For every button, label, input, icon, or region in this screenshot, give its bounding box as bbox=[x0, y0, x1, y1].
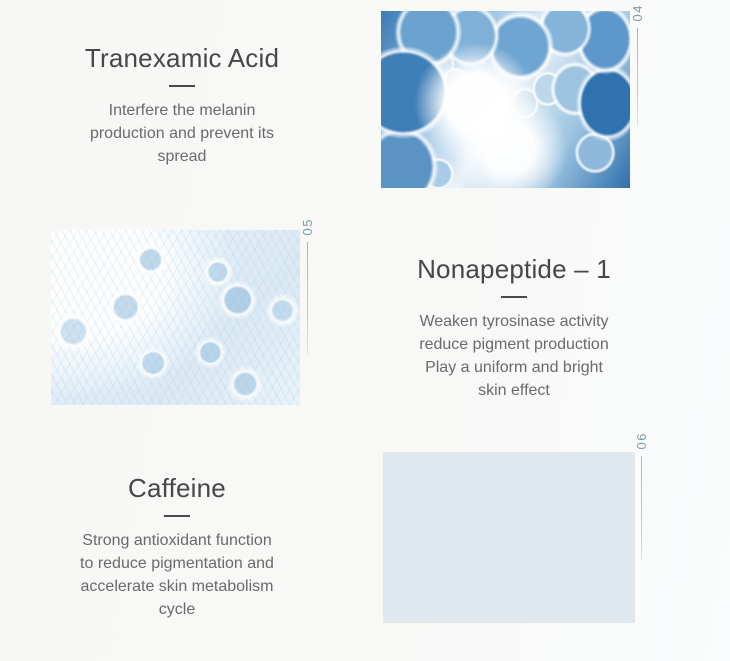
index-number: 04 bbox=[631, 4, 644, 21]
section-nonapeptide-text: Nonapeptide – 1 Weaken tyrosinase activi… bbox=[383, 255, 645, 403]
section-caffeine-text: Caffeine Strong antioxidant function to … bbox=[44, 474, 310, 622]
description-line: reduce pigment production bbox=[383, 333, 645, 356]
section-title: Caffeine bbox=[44, 474, 310, 504]
section-tranexamic-acid-text: Tranexamic Acid Interfere the melanin pr… bbox=[42, 44, 322, 168]
index-marker-04: 04 bbox=[626, 4, 648, 126]
description-line: Weaken tyrosinase activity bbox=[383, 310, 645, 333]
section-title: Nonapeptide – 1 bbox=[383, 255, 645, 285]
ingredient-feature-page: Tranexamic Acid Interfere the melanin pr… bbox=[0, 0, 730, 661]
description-line: Interfere the melanin bbox=[42, 99, 322, 122]
description-line: production and prevent its bbox=[42, 122, 322, 145]
index-number: 05 bbox=[301, 218, 314, 235]
molecule-photo bbox=[51, 230, 300, 405]
description-line: Strong antioxidant function bbox=[44, 529, 310, 552]
section-title: Tranexamic Acid bbox=[42, 44, 322, 74]
index-number: 06 bbox=[635, 432, 648, 449]
description-line: skin effect bbox=[383, 379, 645, 402]
title-divider bbox=[164, 515, 190, 517]
section-description: Interfere the melanin production and pre… bbox=[42, 99, 322, 169]
blue-bubbles-photo bbox=[381, 11, 630, 188]
section-description: Strong antioxidant function to reduce pi… bbox=[44, 529, 310, 622]
description-line: cycle bbox=[44, 598, 310, 621]
index-stem bbox=[307, 242, 308, 354]
section-description: Weaken tyrosinase activity reduce pigmen… bbox=[383, 310, 645, 403]
description-line: to reduce pigmentation and bbox=[44, 552, 310, 575]
description-line: accelerate skin metabolism bbox=[44, 575, 310, 598]
index-marker-05: 05 bbox=[296, 218, 318, 354]
title-divider bbox=[501, 296, 527, 298]
description-line: Play a uniform and bright bbox=[383, 356, 645, 379]
description-line: spread bbox=[42, 145, 322, 168]
index-marker-06: 06 bbox=[630, 432, 652, 560]
coffee-beans-photo bbox=[383, 452, 635, 623]
index-stem bbox=[641, 456, 642, 560]
index-stem bbox=[637, 28, 638, 126]
title-divider bbox=[169, 85, 195, 87]
